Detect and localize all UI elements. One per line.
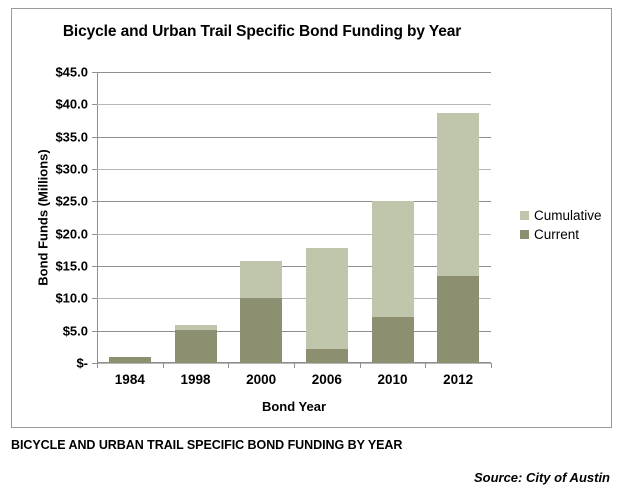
gridline [97, 137, 491, 138]
chart-legend: Cumulative Current [520, 206, 602, 244]
y-tick-mark [92, 72, 97, 73]
gridline [97, 266, 491, 267]
bar-segment-current[interactable] [372, 317, 414, 363]
x-tick-mark [360, 363, 361, 368]
x-tick-mark [425, 363, 426, 368]
figure-caption: BICYCLE AND URBAN TRAIL SPECIFIC BOND FU… [11, 438, 402, 452]
legend-item-cumulative: Cumulative [520, 206, 602, 225]
x-tick-mark [491, 363, 492, 368]
y-tick-label: $10.0 [55, 291, 88, 306]
gridline [97, 169, 491, 170]
y-tick-mark [92, 169, 97, 170]
y-axis-line [97, 72, 98, 363]
bar-group[interactable]: 2006 [306, 72, 348, 363]
bar-group[interactable]: 1998 [175, 72, 217, 363]
x-tick-label: 1984 [95, 372, 165, 387]
y-tick-mark [92, 104, 97, 105]
gridline [97, 298, 491, 299]
bar-segment-current[interactable] [437, 276, 479, 363]
x-tick-label: 2012 [423, 372, 493, 387]
plot-area: $45.0$40.0$35.0$30.0$25.0$20.0$15.0$10.0… [97, 72, 491, 363]
bar-group[interactable]: 2012 [437, 72, 479, 363]
gridline [97, 72, 491, 73]
legend-item-current: Current [520, 225, 602, 244]
x-tick-label: 2006 [292, 372, 362, 387]
bar-group[interactable]: 2010 [372, 72, 414, 363]
x-tick-mark [97, 363, 98, 368]
gridline [97, 234, 491, 235]
y-tick-label: $45.0 [55, 65, 88, 80]
x-tick-mark [163, 363, 164, 368]
bar-segment-current[interactable] [306, 349, 348, 363]
x-axis-title: Bond Year [97, 399, 491, 414]
y-tick-mark [92, 137, 97, 138]
y-tick-mark [92, 201, 97, 202]
bar-segment-current[interactable] [109, 357, 151, 363]
legend-swatch-cumulative [520, 211, 529, 220]
bar-segment-current[interactable] [240, 298, 282, 363]
legend-swatch-current [520, 230, 529, 239]
bar-segment-cumulative[interactable] [306, 248, 348, 349]
y-tick-mark [92, 298, 97, 299]
gridline [97, 201, 491, 202]
y-tick-mark [92, 331, 97, 332]
chart-frame: Bicycle and Urban Trail Specific Bond Fu… [11, 8, 612, 428]
x-tick-label: 2000 [226, 372, 296, 387]
y-tick-label: $25.0 [55, 194, 88, 209]
y-tick-label: $35.0 [55, 129, 88, 144]
x-tick-label: 1998 [161, 372, 231, 387]
bar-group[interactable]: 2000 [240, 72, 282, 363]
bar-segment-cumulative[interactable] [372, 201, 414, 317]
y-tick-mark [92, 234, 97, 235]
y-tick-mark [92, 266, 97, 267]
y-tick-label: $5.0 [63, 323, 88, 338]
bar-segment-cumulative[interactable] [240, 261, 282, 299]
figure-source: Source: City of Austin [474, 470, 610, 485]
y-tick-label: $- [76, 356, 88, 371]
x-tick-mark [294, 363, 295, 368]
legend-label-cumulative: Cumulative [534, 208, 602, 223]
gridline [97, 331, 491, 332]
y-tick-label: $15.0 [55, 259, 88, 274]
x-tick-label: 2010 [358, 372, 428, 387]
x-tick-mark [228, 363, 229, 368]
gridline [97, 104, 491, 105]
bar-group[interactable]: 1984 [109, 72, 151, 363]
y-tick-label: $30.0 [55, 162, 88, 177]
y-tick-label: $20.0 [55, 226, 88, 241]
y-axis-title: Bond Funds (Millions) [34, 72, 52, 363]
chart-title: Bicycle and Urban Trail Specific Bond Fu… [12, 23, 512, 41]
y-axis-title-text: Bond Funds (Millions) [36, 149, 51, 285]
y-tick-label: $40.0 [55, 97, 88, 112]
bar-segment-cumulative[interactable] [437, 113, 479, 275]
bar-segment-current[interactable] [175, 330, 217, 363]
legend-label-current: Current [534, 227, 579, 242]
